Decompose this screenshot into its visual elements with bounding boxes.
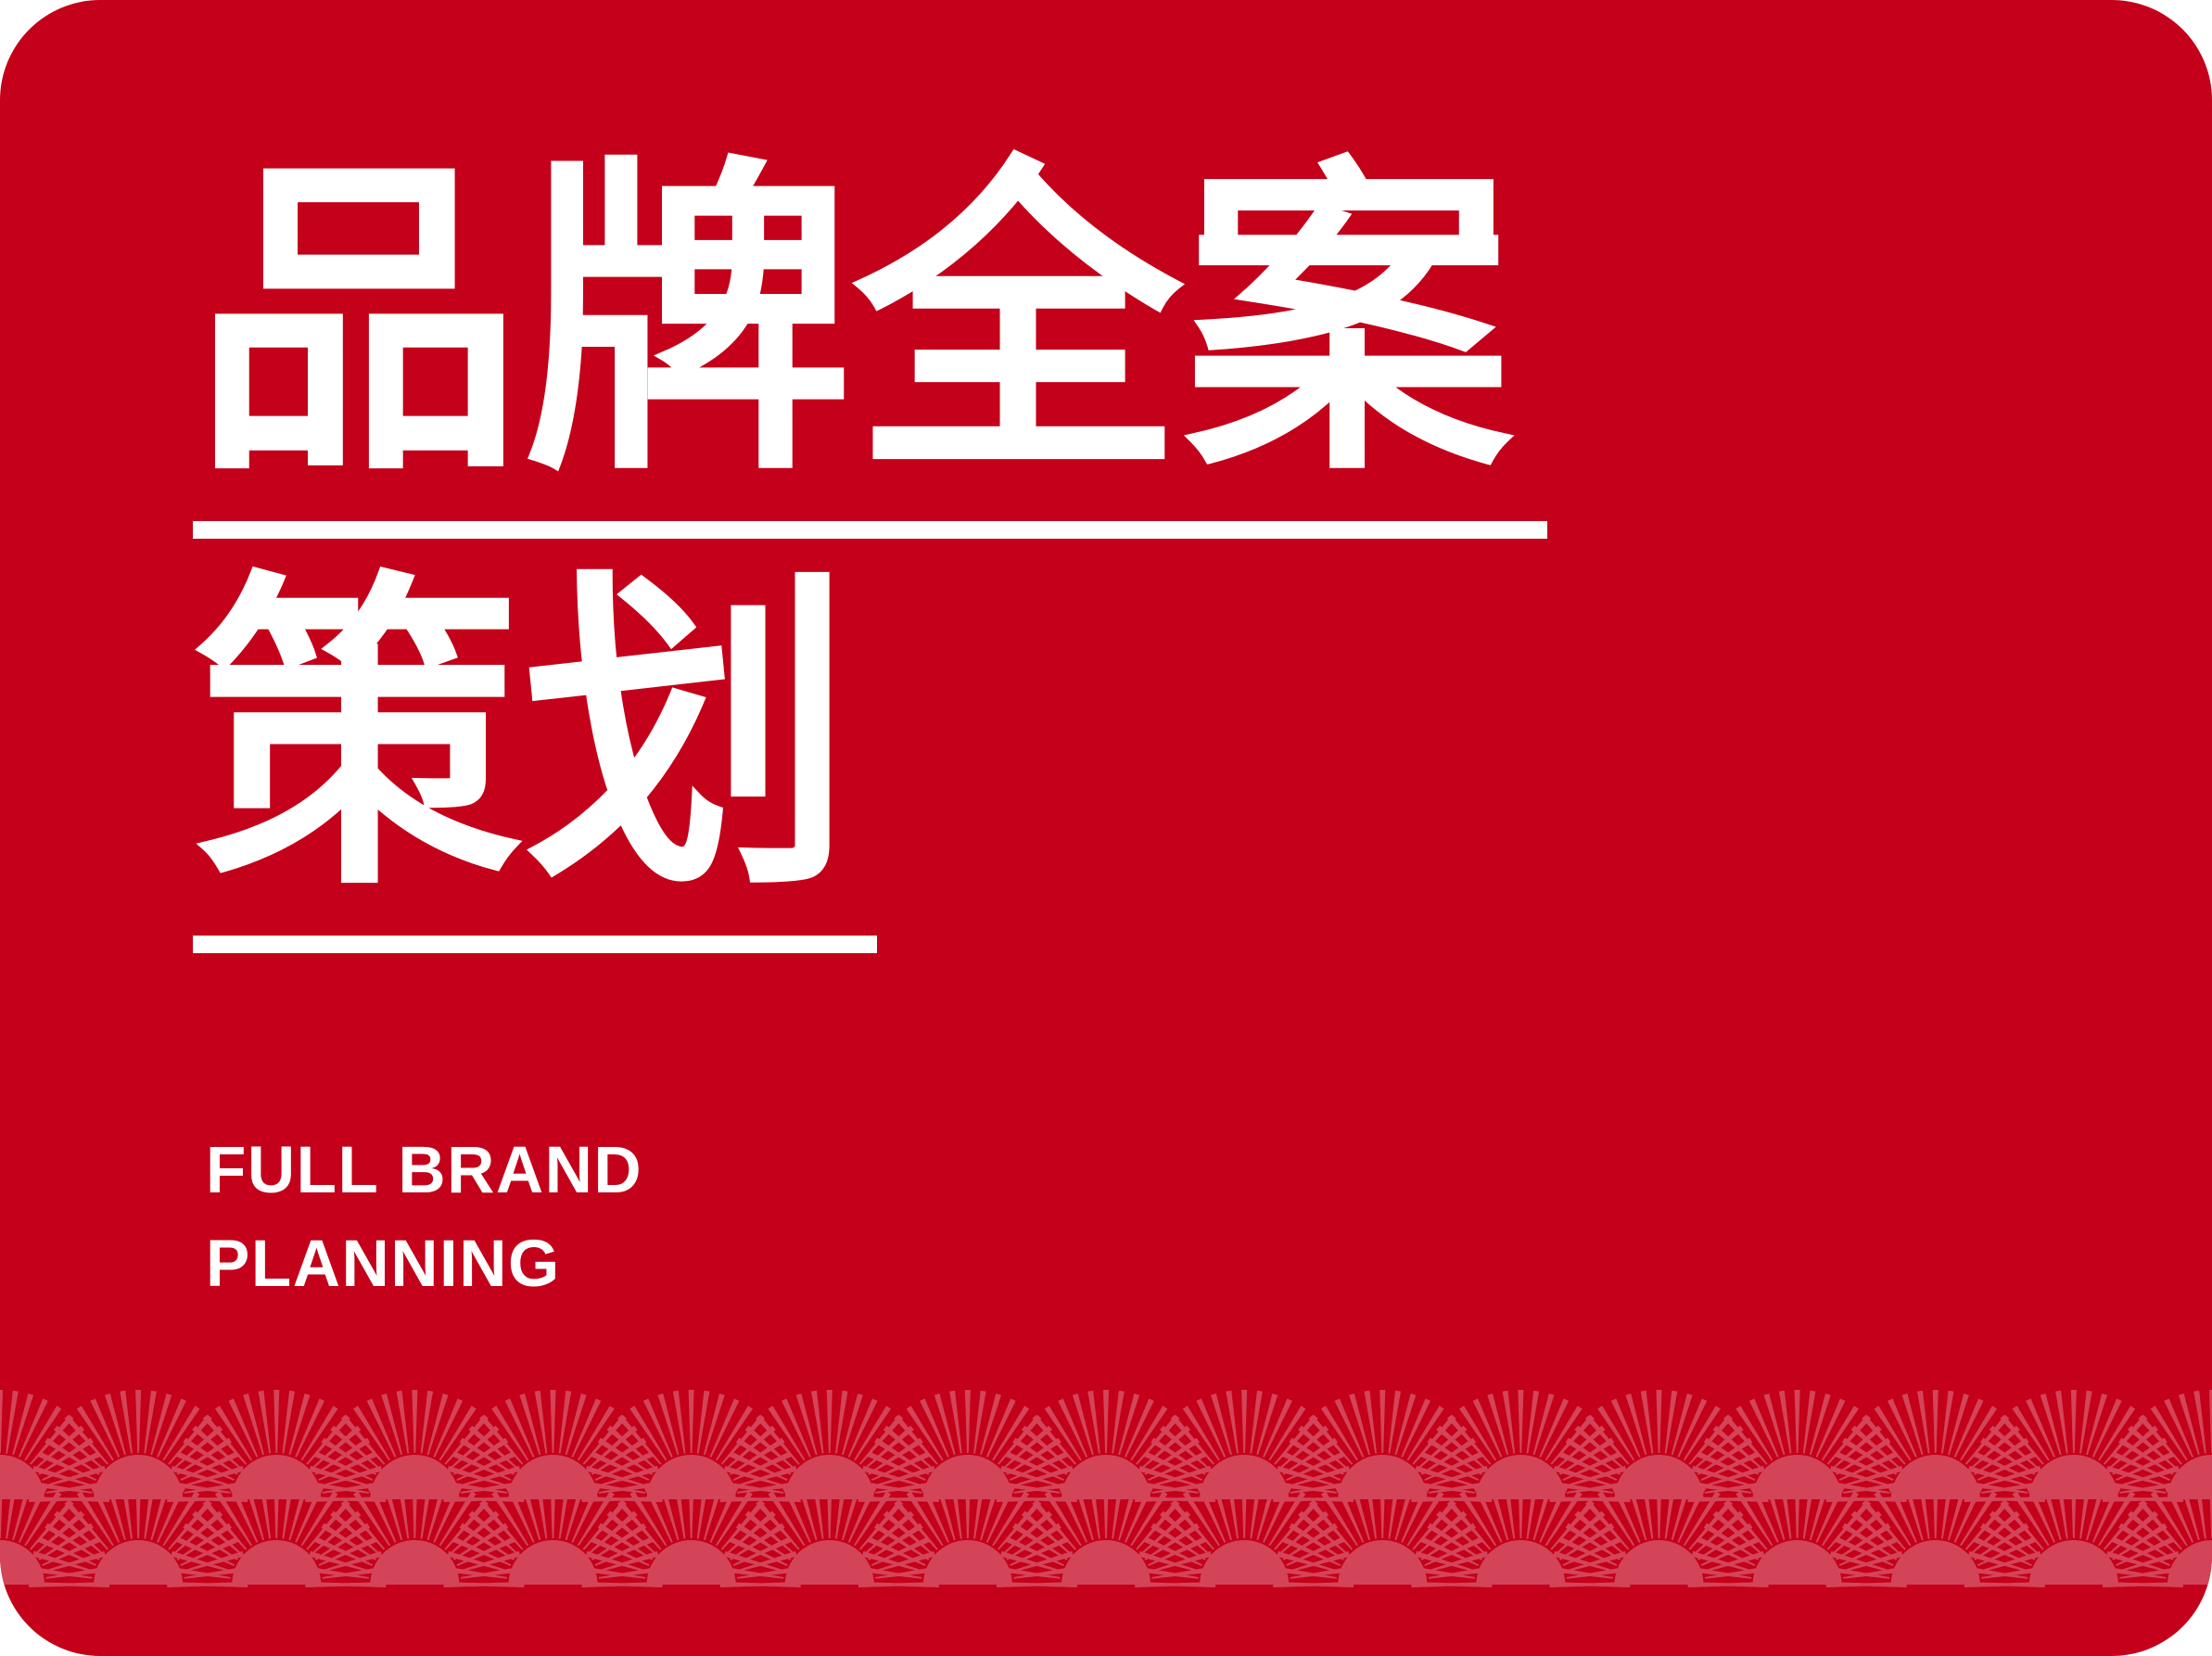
subtitle-line-1: FULL BRAND <box>206 1124 642 1217</box>
sunburst-row <box>0 1390 2212 1502</box>
poster-canvas: 品牌全案 策划 FULL BRAND PLANNING <box>0 0 2212 1656</box>
subtitle-block: FULL BRAND PLANNING <box>206 1124 642 1311</box>
sunburst-pattern-icon <box>0 1372 2212 1656</box>
sunburst-row <box>0 1475 2212 1587</box>
subtitle-line-2: PLANNING <box>206 1217 642 1311</box>
headline-line-1: 品牌全案 <box>193 158 1676 488</box>
red-card: 品牌全案 策划 FULL BRAND PLANNING <box>0 0 2212 1656</box>
sunburst-pattern-band <box>0 1372 2212 1656</box>
headline-rule-2 <box>193 936 877 953</box>
headline-line-2: 策划 <box>193 572 1676 902</box>
headline-block: 品牌全案 策划 <box>193 158 1676 987</box>
headline-rule-1 <box>193 521 1547 539</box>
